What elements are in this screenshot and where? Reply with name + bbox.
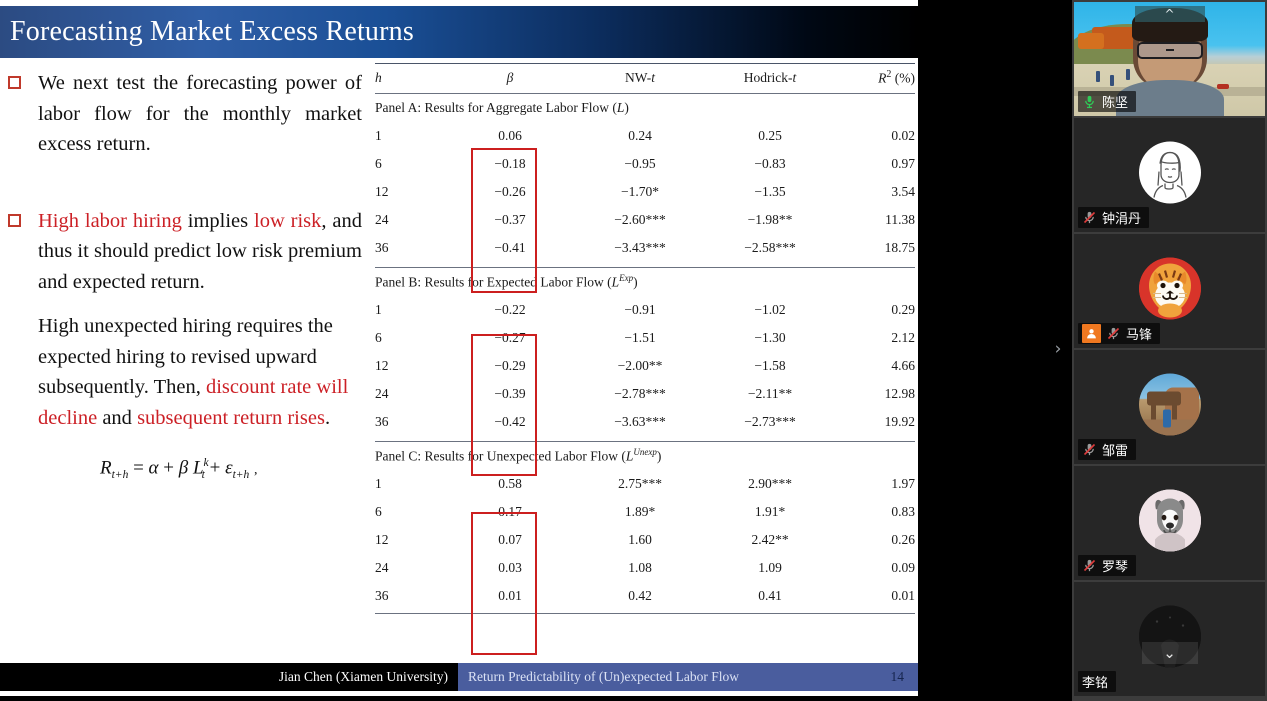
- col-header-hodrick: Hodrick-t: [705, 64, 835, 92]
- cell-h: 12: [375, 352, 445, 380]
- table-row: 24 −0.39 −2.78*** −2.11** 12.98: [375, 380, 915, 408]
- cell-beta: −0.18: [445, 150, 575, 178]
- cell-hodrick: −1.30: [705, 324, 835, 352]
- col-header-nw-t: NW-t: [575, 64, 705, 92]
- footer-author: Jian Chen (Xiamen University): [0, 663, 458, 691]
- para-seg-4: subsequent return rises: [137, 407, 325, 429]
- panel-a-label-row: Panel A: Results for Aggregate Labor Flo…: [375, 94, 915, 122]
- panel-c-rule: [375, 610, 915, 614]
- bullet-2-text: High labor hiring implies low risk, and …: [38, 206, 362, 298]
- panel-c-label: Panel C: Results for Unexpected Labor Fl…: [375, 449, 626, 464]
- table-header-row: h β NW-t Hodrick-t R2 (%): [375, 64, 915, 92]
- dog-photo-icon: [1139, 490, 1201, 552]
- cell-r2: 3.54: [835, 178, 915, 206]
- cell-beta: −0.39: [445, 380, 575, 408]
- paragraph-block: High unexpected hiring requires the expe…: [0, 311, 362, 433]
- cell-h: 24: [375, 554, 445, 582]
- cell-beta: −0.22: [445, 296, 575, 324]
- cell-hodrick: −2.11**: [705, 380, 835, 408]
- cell-r2: 0.02: [835, 122, 915, 150]
- cell-hodrick: 0.25: [705, 122, 835, 150]
- bullet-2-seg-1: High labor hiring: [38, 210, 182, 232]
- table-row: 12 −0.26 −1.70* −1.35 3.54: [375, 178, 915, 206]
- cell-r2: 1.97: [835, 470, 915, 498]
- table-row: 1 0.58 2.75*** 2.90*** 1.97: [375, 470, 915, 498]
- microphone-muted-icon: [1082, 558, 1097, 573]
- participant-name-badge: 钟涓丹: [1078, 207, 1149, 228]
- col-header-beta: β: [445, 64, 575, 92]
- table-row: 36 −0.42 −3.63*** −2.73*** 19.92: [375, 408, 915, 436]
- participant-name: 陈坚: [1102, 92, 1128, 111]
- table-row: 6 0.17 1.89* 1.91* 0.83: [375, 498, 915, 526]
- collapse-filmstrip-button[interactable]: ›: [1048, 336, 1068, 362]
- cell-h: 1: [375, 122, 445, 150]
- cell-h: 36: [375, 234, 445, 262]
- results-table-container: h β NW-t Hodrick-t R2 (%) Panel A: Resul…: [375, 63, 915, 614]
- tiger-icon: [1139, 258, 1201, 320]
- cell-h: 24: [375, 206, 445, 234]
- square-bullet-icon: [8, 214, 21, 227]
- participant-name: 马锋: [1126, 324, 1152, 343]
- participant-name-badge: 李铭: [1078, 671, 1116, 692]
- cell-nw: −2.00**: [575, 352, 705, 380]
- participant-name-badge: 马锋: [1078, 323, 1160, 344]
- table-row: 24 0.03 1.08 1.09 0.09: [375, 554, 915, 582]
- bullet-item-2: High labor hiring implies low risk, and …: [0, 206, 362, 298]
- zoom-meeting-window: Forecasting Market Excess Returns We nex…: [0, 0, 1267, 701]
- panel-a-label: Panel A: Results for Aggregate Labor Flo…: [375, 100, 617, 115]
- cell-beta: −0.37: [445, 206, 575, 234]
- table-row: 36 −0.41 −3.43*** −2.58*** 18.75: [375, 234, 915, 262]
- cell-nw: −3.63***: [575, 408, 705, 436]
- cell-r2: 0.83: [835, 498, 915, 526]
- cell-hodrick: 1.91*: [705, 498, 835, 526]
- cell-r2: 0.97: [835, 150, 915, 178]
- panel-c-label-row: Panel C: Results for Unexpected Labor Fl…: [375, 442, 915, 470]
- microphone-on-icon: [1082, 94, 1097, 109]
- participant-name-badge: 陈坚: [1078, 91, 1136, 112]
- cell-r2: 4.66: [835, 352, 915, 380]
- participant-tile-1[interactable]: 钟涓丹: [1074, 118, 1265, 232]
- girl-line-art-icon: [1139, 142, 1201, 204]
- cell-nw: 1.89*: [575, 498, 705, 526]
- table-row: 6 −0.18 −0.95 −0.83 0.97: [375, 150, 915, 178]
- table-row: 36 0.01 0.42 0.41 0.01: [375, 582, 915, 610]
- cell-r2: 0.01: [835, 582, 915, 610]
- cell-hodrick: 2.42**: [705, 526, 835, 554]
- cell-h: 1: [375, 470, 445, 498]
- square-bullet-icon: [8, 76, 21, 89]
- table-row: 12 −0.29 −2.00** −1.58 4.66: [375, 352, 915, 380]
- cell-hodrick: −1.35: [705, 178, 835, 206]
- cell-hodrick: 0.41: [705, 582, 835, 610]
- bullet-2-seg-3: low risk: [254, 210, 321, 232]
- cell-h: 1: [375, 296, 445, 324]
- cell-beta: −0.42: [445, 408, 575, 436]
- cell-hodrick: −0.83: [705, 150, 835, 178]
- cell-h: 36: [375, 408, 445, 436]
- cell-beta: 0.01: [445, 582, 575, 610]
- cell-nw: −2.60***: [575, 206, 705, 234]
- participant-name-badge: 邹雷: [1078, 439, 1136, 460]
- cell-h: 6: [375, 150, 445, 178]
- participant-name-badge: 罗琴: [1078, 555, 1136, 576]
- table-row: 6 −0.27 −1.51 −1.30 2.12: [375, 324, 915, 352]
- regression-formula: Rt+h = α + β Lkt + εt+h ,: [0, 457, 362, 481]
- microphone-muted-icon: [1082, 210, 1097, 225]
- cell-nw: 0.24: [575, 122, 705, 150]
- paragraph-text: High unexpected hiring requires the expe…: [38, 311, 362, 433]
- cell-nw: −2.78***: [575, 380, 705, 408]
- cell-beta: 0.03: [445, 554, 575, 582]
- table-row: 24 −0.37 −2.60*** −1.98** 11.38: [375, 206, 915, 234]
- cell-hodrick: −1.02: [705, 296, 835, 324]
- microphone-muted-icon: [1106, 326, 1121, 341]
- slide-left-column: We next test the forecasting power of la…: [0, 68, 362, 668]
- footer-paper-section: Return Predictability of (Un)expected La…: [458, 663, 918, 691]
- avatar: [1139, 142, 1201, 204]
- cell-h: 6: [375, 498, 445, 526]
- cell-h: 6: [375, 324, 445, 352]
- table-row: 1 −0.22 −0.91 −1.02 0.29: [375, 296, 915, 324]
- host-badge-icon: [1082, 324, 1101, 343]
- cell-nw: −1.51: [575, 324, 705, 352]
- avatar: [1139, 258, 1201, 320]
- para-seg-3: and: [97, 407, 137, 429]
- cell-h: 36: [375, 582, 445, 610]
- cell-beta: 0.58: [445, 470, 575, 498]
- para-seg-5: .: [325, 407, 330, 429]
- cell-nw: 1.08: [575, 554, 705, 582]
- cell-nw: 0.42: [575, 582, 705, 610]
- avatar: [1139, 490, 1201, 552]
- participant-name: 钟涓丹: [1102, 208, 1141, 227]
- footer-page-number: 14: [891, 669, 905, 685]
- cell-hodrick: 2.90***: [705, 470, 835, 498]
- avatar: [1139, 374, 1201, 436]
- cell-hodrick: −2.73***: [705, 408, 835, 436]
- scroll-down-button[interactable]: ⌄: [1142, 642, 1198, 664]
- cell-nw: −3.43***: [575, 234, 705, 262]
- cell-r2: 0.26: [835, 526, 915, 554]
- cell-beta: 0.07: [445, 526, 575, 554]
- cell-hodrick: −1.58: [705, 352, 835, 380]
- cell-r2: 0.09: [835, 554, 915, 582]
- cell-h: 24: [375, 380, 445, 408]
- participant-tile-5[interactable]: ⌄ 李铭: [1074, 582, 1265, 696]
- cell-hodrick: −2.58***: [705, 234, 835, 262]
- bullet-item-1: We next test the forecasting power of la…: [0, 68, 362, 160]
- slide-title-bar: Forecasting Market Excess Returns: [0, 6, 918, 58]
- results-table: h β NW-t Hodrick-t R2 (%) Panel A: Resul…: [375, 63, 915, 614]
- panel-b-label-row: Panel B: Results for Expected Labor Flow…: [375, 268, 915, 296]
- cell-h: 12: [375, 178, 445, 206]
- screen-share-stage: Forecasting Market Excess Returns We nex…: [0, 0, 1070, 701]
- slide-footer: Jian Chen (Xiamen University) Return Pre…: [0, 663, 918, 691]
- cell-beta: −0.29: [445, 352, 575, 380]
- panel-b-label: Panel B: Results for Expected Labor Flow…: [375, 275, 612, 290]
- cell-nw: 1.60: [575, 526, 705, 554]
- cell-beta: 0.17: [445, 498, 575, 526]
- cell-nw: −0.95: [575, 150, 705, 178]
- cell-h: 12: [375, 526, 445, 554]
- cell-r2: 0.29: [835, 296, 915, 324]
- cell-nw: 2.75***: [575, 470, 705, 498]
- cell-beta: −0.26: [445, 178, 575, 206]
- participant-tile-0[interactable]: ^ 陈坚: [1074, 2, 1265, 116]
- col-header-r2: R2 (%): [835, 64, 915, 92]
- cell-beta: −0.27: [445, 324, 575, 352]
- cell-hodrick: −1.98**: [705, 206, 835, 234]
- participant-filmstrip: ^ 陈坚: [1072, 0, 1267, 701]
- chevron-up-icon[interactable]: ^: [1135, 6, 1205, 22]
- table-row: 1 0.06 0.24 0.25 0.02: [375, 122, 915, 150]
- cell-r2: 18.75: [835, 234, 915, 262]
- cell-r2: 12.98: [835, 380, 915, 408]
- slide-title: Forecasting Market Excess Returns: [0, 16, 414, 48]
- participant-name: 罗琴: [1102, 556, 1128, 575]
- participant-tile-2[interactable]: 马锋: [1074, 234, 1265, 348]
- participant-tile-4[interactable]: 罗琴: [1074, 466, 1265, 580]
- cell-r2: 19.92: [835, 408, 915, 436]
- microphone-muted-icon: [1082, 442, 1097, 457]
- cell-beta: 0.06: [445, 122, 575, 150]
- table-row: 12 0.07 1.60 2.42** 0.26: [375, 526, 915, 554]
- cell-r2: 2.12: [835, 324, 915, 352]
- presentation-slide: Forecasting Market Excess Returns We nex…: [0, 0, 918, 696]
- cell-beta: −0.41: [445, 234, 575, 262]
- footer-paper-title: Return Predictability of (Un)expected La…: [468, 669, 739, 685]
- cell-r2: 11.38: [835, 206, 915, 234]
- participant-name: 邹雷: [1102, 440, 1128, 459]
- participant-tile-3[interactable]: 邹雷: [1074, 350, 1265, 464]
- cell-nw: −0.91: [575, 296, 705, 324]
- bullet-2-seg-2: implies: [182, 210, 254, 232]
- cell-hodrick: 1.09: [705, 554, 835, 582]
- bullet-1-text: We next test the forecasting power of la…: [38, 68, 362, 160]
- col-header-h: h: [375, 64, 445, 92]
- cell-nw: −1.70*: [575, 178, 705, 206]
- participant-name: 李铭: [1082, 672, 1108, 691]
